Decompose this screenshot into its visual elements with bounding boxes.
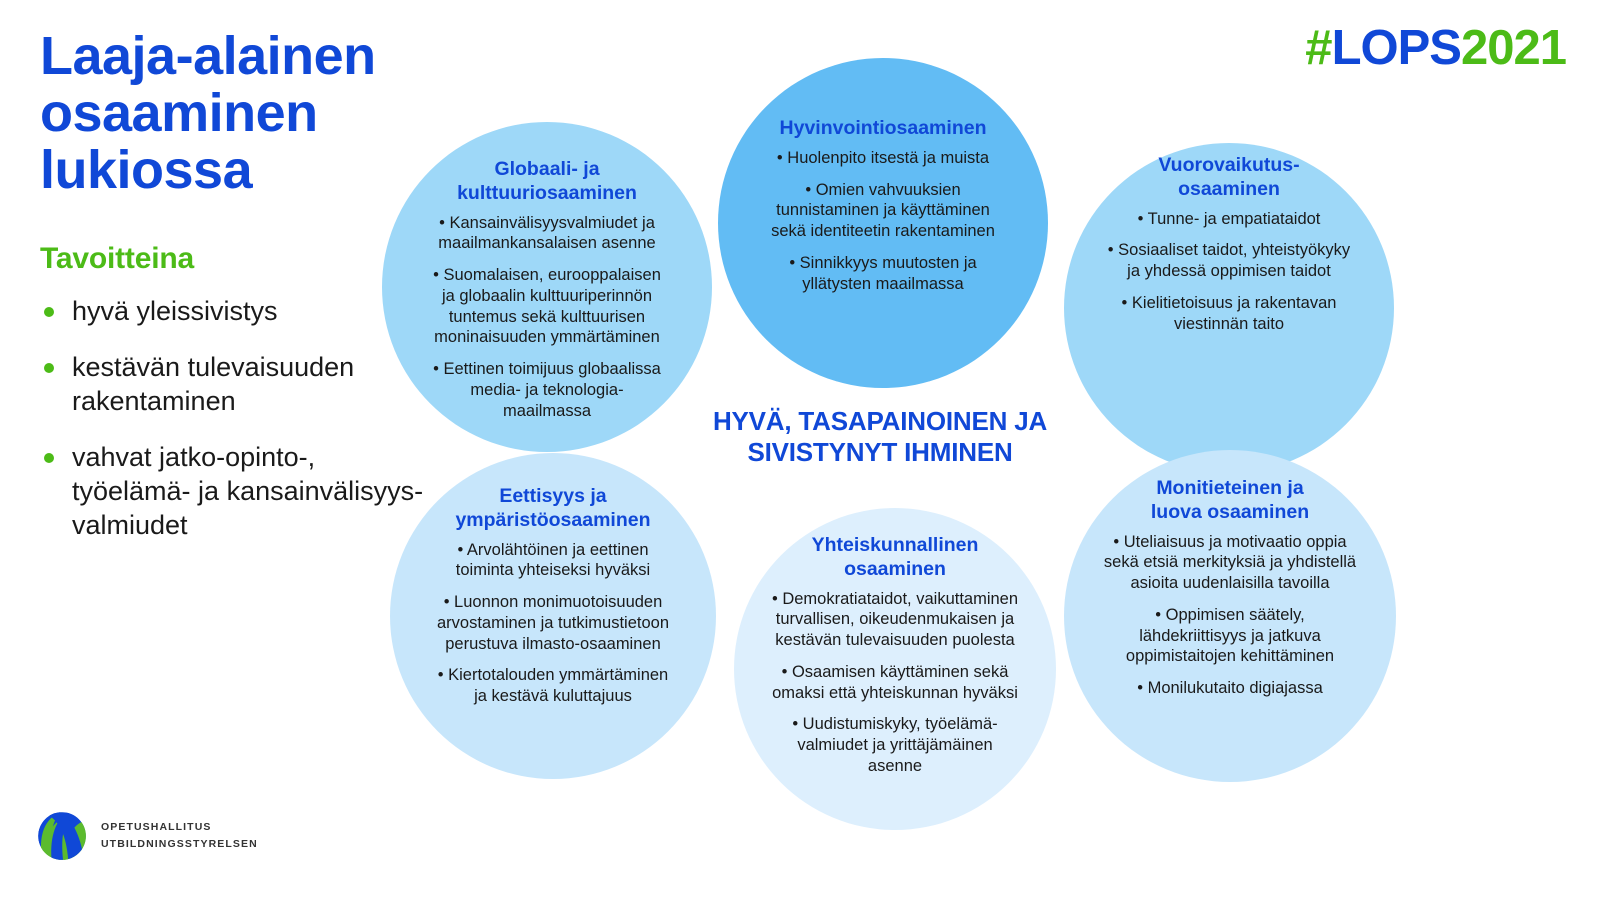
list-item: • Omien vahvuuksien tunnistaminen ja käy…	[771, 180, 995, 242]
list-item: • Kielitietoisuus ja rakentavan viestinn…	[1108, 293, 1350, 335]
list-item: • Osaamisen käyttäminen sekä omaksi että…	[772, 662, 1018, 704]
circle-title: Eettisyys ja ympäristöosaaminen	[455, 485, 650, 533]
center-caption: HYVÄ, TASAPAINOINEN JA SIVISTYNYT IHMINE…	[690, 406, 1070, 468]
hashtag-symbol: #	[1305, 21, 1331, 75]
list-item: • Sinnikkyys muutosten ja yllätysten maa…	[771, 253, 995, 295]
circle-points: • Tunne- ja empatiataidot • Sosiaaliset …	[1108, 209, 1350, 335]
list-item: • Huolenpito itsestä ja muista	[771, 148, 995, 169]
list-item: vahvat jatko-opinto-, työelämä- ja kansa…	[40, 440, 440, 542]
list-item: • Tunne- ja empatiataidot	[1108, 209, 1350, 230]
organisation-names: OPETUSHALLITUS UTBILDNINGSSTYRELSEN	[101, 819, 258, 854]
competence-circle-society: Yhteiskunnallinen osaaminen • Demokratia…	[734, 508, 1056, 830]
list-item: • Arvolähtöinen ja eettinen toiminta yht…	[437, 540, 669, 582]
opetushallitus-logo: OPETUSHALLITUS UTBILDNINGSSTYRELSEN	[36, 810, 258, 862]
opetushallitus-mark-icon	[36, 810, 88, 862]
competence-circle-interaction: Vuorovaikutus- osaaminen • Tunne- ja emp…	[1064, 143, 1394, 473]
goals-list: hyvä yleissivistys kestävän tulevaisuude…	[40, 294, 440, 542]
circle-points: • Huolenpito itsestä ja muista • Omien v…	[771, 148, 995, 295]
circle-points: • Demokratiataidot, vaikuttaminen turval…	[772, 589, 1018, 777]
circle-title: Vuorovaikutus- osaaminen	[1158, 154, 1299, 202]
list-item: • Oppimisen säätely, lähdekriittisyys ja…	[1104, 605, 1356, 667]
list-item: • Sosiaaliset taidot, yhteistyökyky ja y…	[1108, 240, 1350, 282]
circle-points: • Uteliaisuus ja motivaatio oppia sekä e…	[1104, 532, 1356, 699]
circle-points: • Arvolähtöinen ja eettinen toiminta yht…	[437, 540, 669, 707]
circle-title: Yhteiskunnallinen osaaminen	[812, 534, 979, 582]
list-item: • Demokratiataidot, vaikuttaminen turval…	[772, 589, 1018, 651]
list-item: • Luonnon monimuotoisuuden arvostaminen …	[437, 592, 669, 654]
goals-heading: Tavoitteina	[40, 242, 440, 276]
hashtag-lops-text: LOPS	[1332, 21, 1461, 75]
hashtag-lops2021-logo: #LOPS2021	[1305, 20, 1566, 76]
left-panel: Laaja-alainen osaaminen lukiossa Tavoitt…	[40, 28, 440, 564]
circle-title: Monitieteinen ja luova osaaminen	[1151, 477, 1309, 525]
list-item: kestävän tulevaisuuden rakentaminen	[40, 350, 440, 418]
competence-circle-multidisciplinary: Monitieteinen ja luova osaaminen • Uteli…	[1064, 450, 1396, 782]
list-item: • Monilukutaito digiajassa	[1104, 678, 1356, 699]
circle-title: Globaali- ja kulttuuriosaaminen	[457, 158, 637, 206]
list-item: • Uudistumiskyky, työelämä- valmiudet ja…	[772, 714, 1018, 776]
circle-points: • Kansainvälisyysvalmiudet ja maailmanka…	[433, 213, 661, 422]
circle-title: Hyvinvointiosaaminen	[780, 117, 987, 141]
list-item: • Eettinen toimijuus globaalissa media- …	[433, 359, 661, 421]
list-item: hyvä yleissivistys	[40, 294, 440, 328]
page-title: Laaja-alainen osaaminen lukiossa	[40, 28, 440, 200]
competence-circle-ethics: Eettisyys ja ympäristöosaaminen • Arvolä…	[390, 453, 716, 779]
hashtag-year-text: 2021	[1461, 21, 1566, 75]
list-item: • Suomalaisen, eurooppalaisen ja globaal…	[433, 265, 661, 348]
list-item: • Uteliaisuus ja motivaatio oppia sekä e…	[1104, 532, 1356, 594]
list-item: • Kansainvälisyysvalmiudet ja maailmanka…	[433, 213, 661, 255]
competence-circle-wellbeing: Hyvinvointiosaaminen • Huolenpito itsest…	[718, 58, 1048, 388]
competence-circle-global: Globaali- ja kulttuuriosaaminen • Kansai…	[382, 122, 712, 452]
list-item: • Kiertotalouden ymmärtäminen ja kestävä…	[437, 665, 669, 707]
